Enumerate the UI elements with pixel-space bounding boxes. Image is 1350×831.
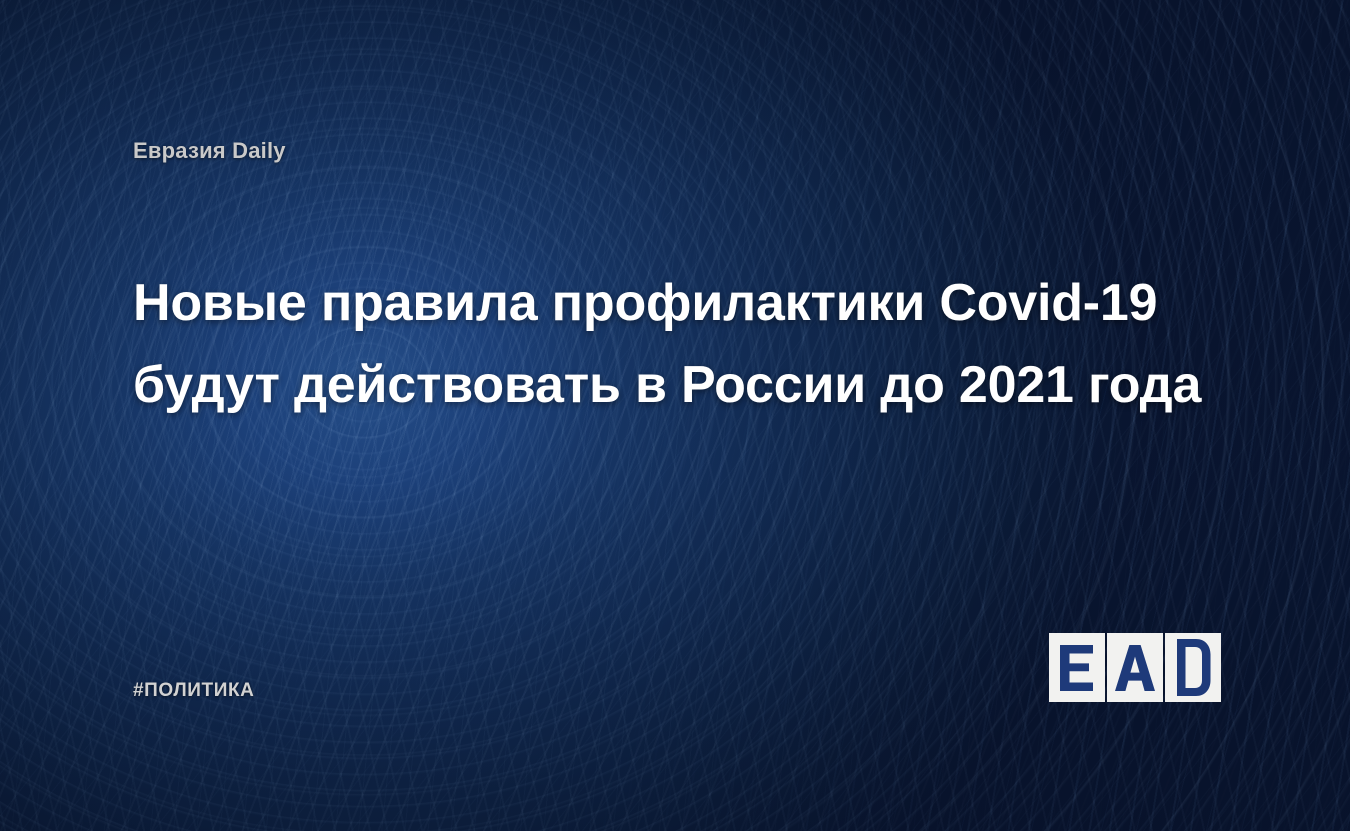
logo-letter-d-icon xyxy=(1165,633,1221,702)
logo-letter-e-icon xyxy=(1060,645,1094,691)
logo-tile-a xyxy=(1107,633,1163,702)
category-tag-politics: #ПОЛИТИКА xyxy=(133,680,255,702)
site-name: Евразия Daily xyxy=(133,138,286,164)
article-share-card: Евразия Daily Новые правила профилактики… xyxy=(0,0,1350,831)
card-content: Евразия Daily Новые правила профилактики… xyxy=(0,0,1350,831)
eadaily-logo xyxy=(1049,633,1221,702)
logo-letter-a-icon xyxy=(1115,645,1155,691)
logo-tile-d xyxy=(1165,633,1221,702)
logo-tile-e xyxy=(1049,633,1105,702)
page-title: Новые правила профилактики Covid-19 буду… xyxy=(133,262,1203,426)
